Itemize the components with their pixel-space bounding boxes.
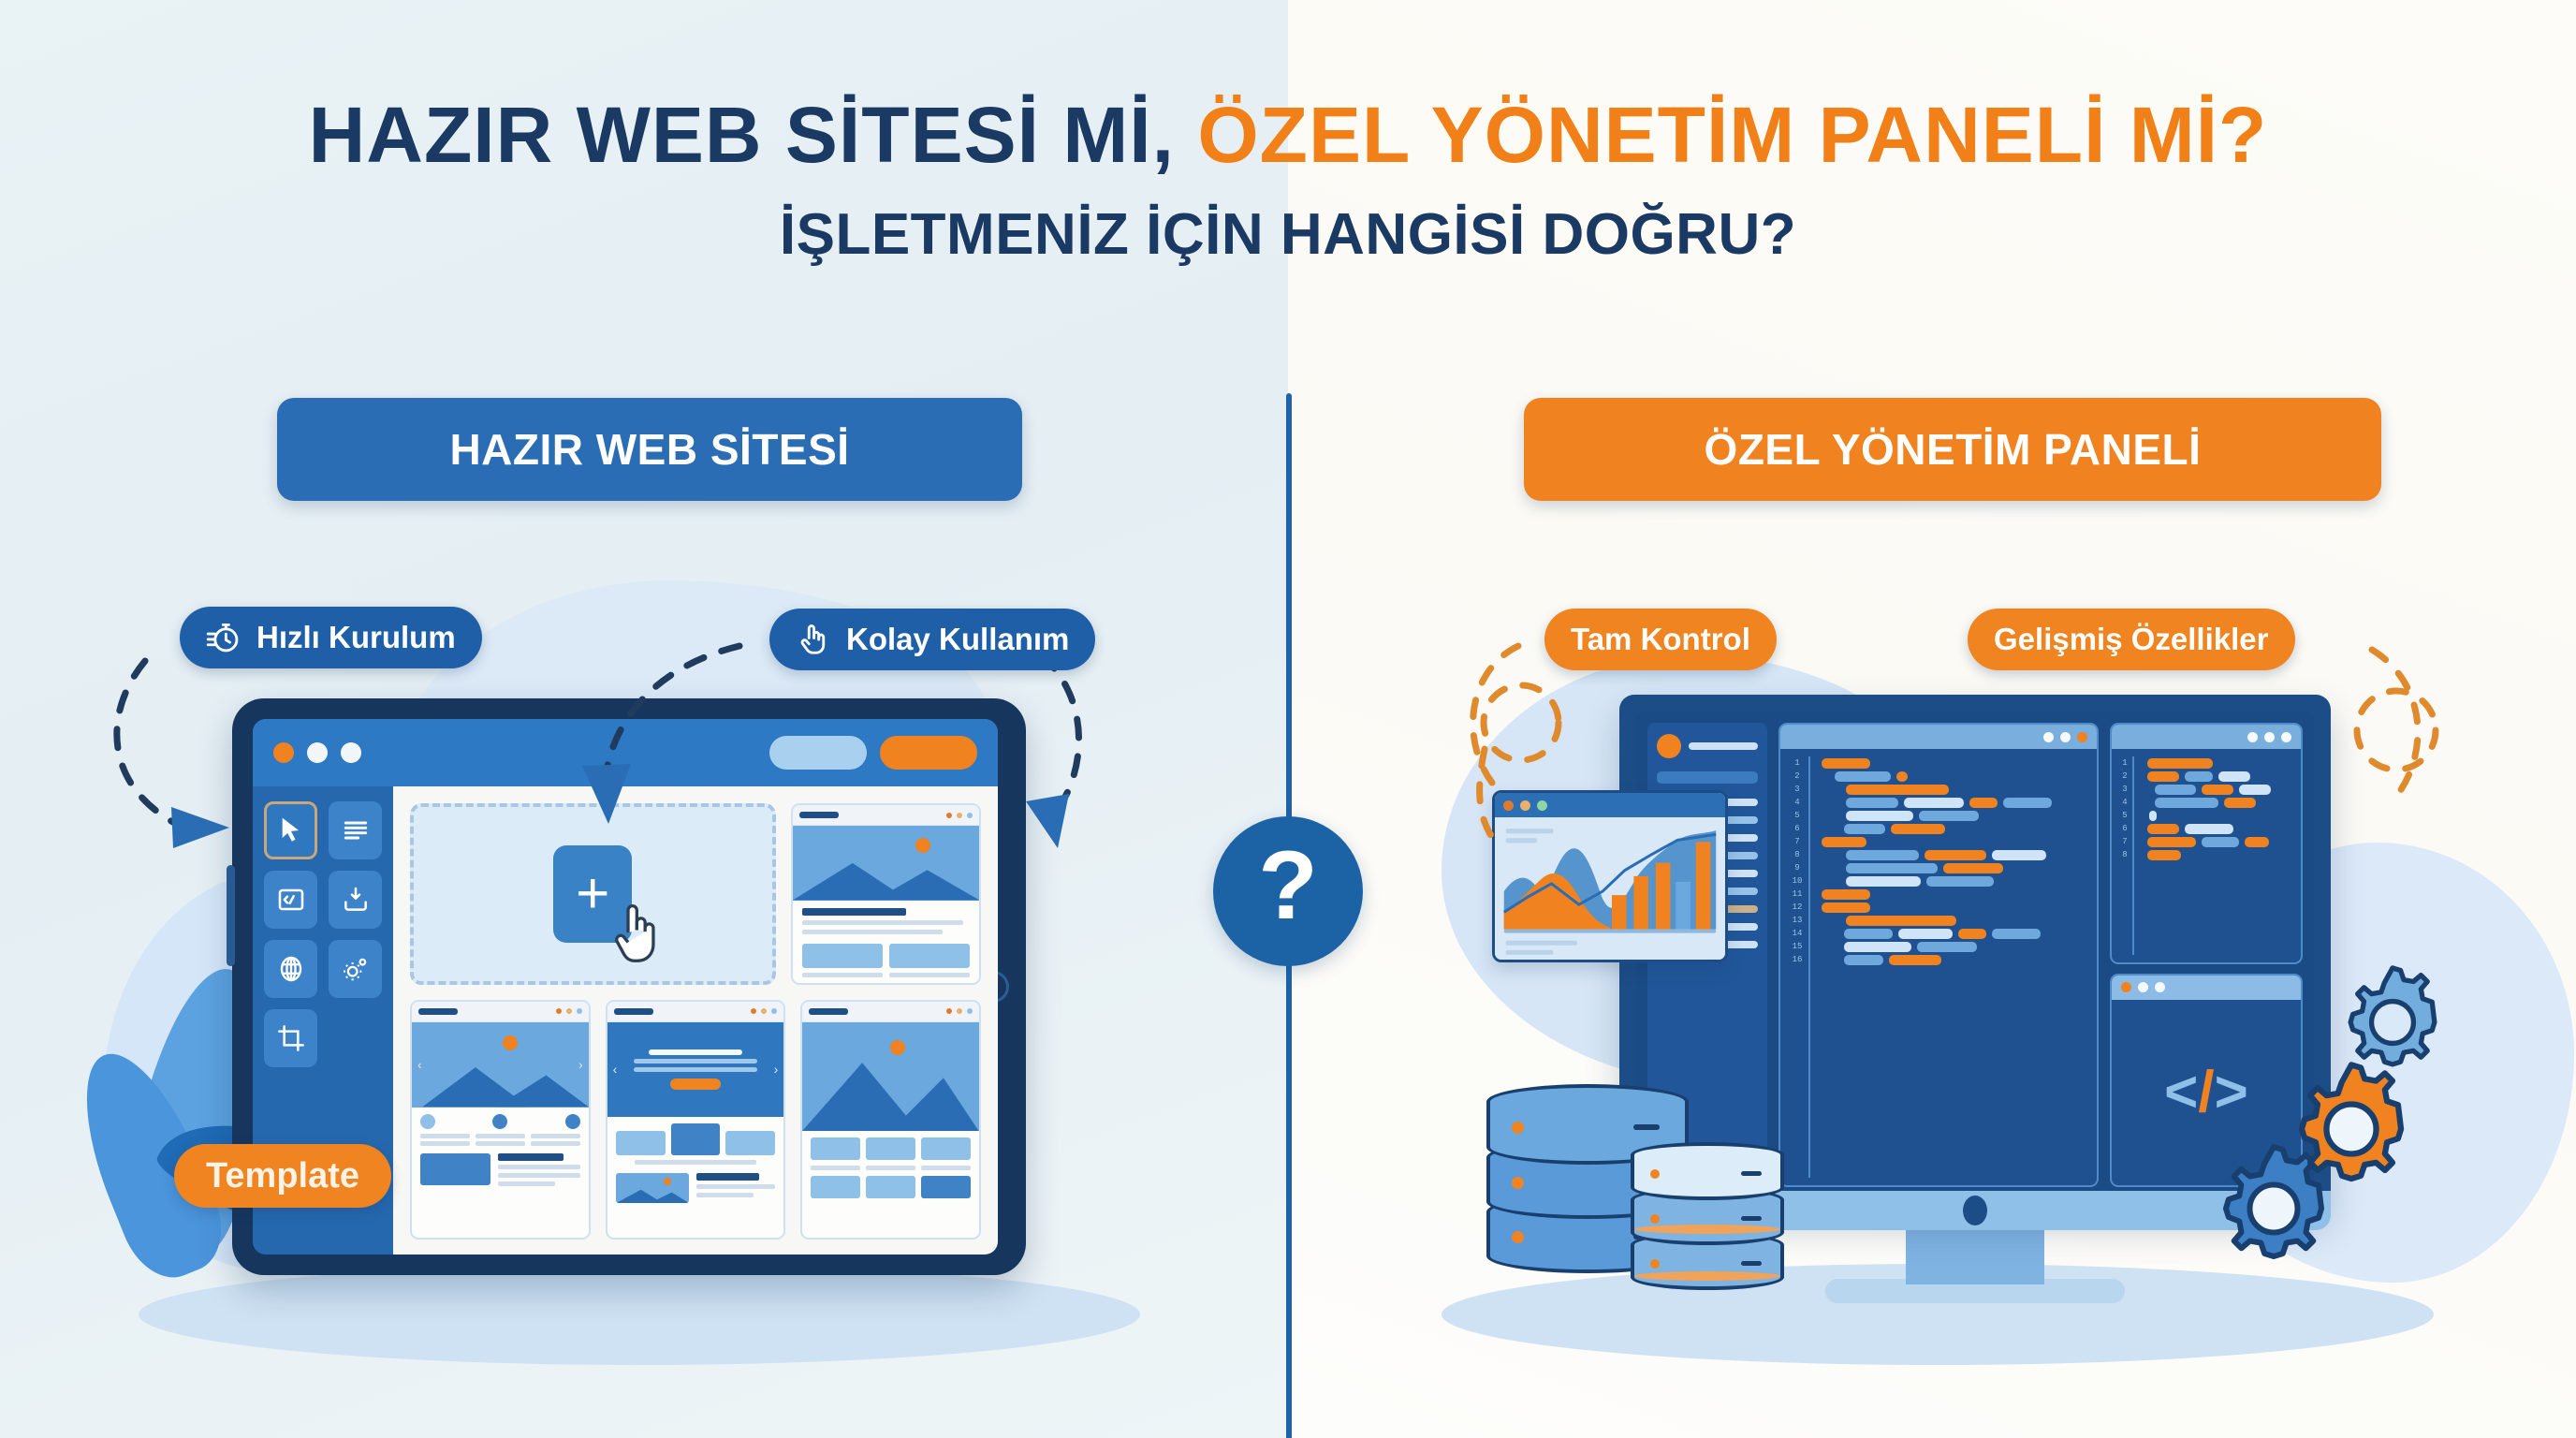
code-line <box>1818 876 2091 887</box>
title-part-one: HAZIR WEB SİTESİ Mİ, <box>309 91 1175 179</box>
card-caption <box>889 973 970 977</box>
template-card-titlebar <box>412 1002 589 1022</box>
template-card-1[interactable] <box>791 803 981 985</box>
card-title-bar <box>614 1008 653 1015</box>
card-dot-2-icon <box>957 1008 962 1014</box>
mountain-icon <box>793 854 979 900</box>
window-dot-minimize-icon[interactable] <box>2043 732 2054 742</box>
card-dot-1-icon <box>946 1008 952 1014</box>
pill-hizli-kurulum-label: Hızlı Kurulum <box>256 620 456 655</box>
grid-block <box>866 1137 915 1160</box>
template-card-titlebar <box>607 1002 784 1022</box>
line-number: 10 <box>1793 876 1803 887</box>
window-dot-close-icon[interactable] <box>1503 800 1514 811</box>
database-ring <box>1634 1225 1780 1234</box>
code-area[interactable]: 1 2 3 4 5 6 7 8 9 10 11 12 13 <box>1780 749 2097 1185</box>
code-window-titlebar <box>1780 725 2097 749</box>
card-content <box>793 901 979 985</box>
caption-row <box>420 1134 580 1146</box>
card-dot-3-icon <box>967 813 973 818</box>
caption-col <box>476 1134 525 1146</box>
line-number: 3 <box>2122 785 2127 795</box>
line-number: 5 <box>1794 811 1799 821</box>
database-ring <box>1634 1271 1780 1281</box>
side-window-titlebar <box>2112 725 2301 749</box>
card-text-line <box>531 1134 580 1138</box>
card-title-bar <box>418 1008 458 1015</box>
caption-row <box>811 1166 971 1170</box>
line-number: 6 <box>2122 824 2127 834</box>
card-caption <box>802 973 883 977</box>
line-number: 8 <box>1794 850 1799 860</box>
card-text-line <box>498 1165 580 1169</box>
line-number: 4 <box>2122 798 2127 808</box>
grid-block <box>921 1137 971 1160</box>
list-icon <box>341 815 371 845</box>
sidebar-profile-label <box>1689 742 1758 750</box>
card-text-line <box>476 1134 525 1138</box>
card-text-line <box>420 1134 470 1138</box>
database-led-icon <box>1650 1169 1660 1179</box>
card-thumb-row <box>802 944 970 968</box>
code-line <box>2140 771 2295 782</box>
pill-gelismis-ozellikler-label: Gelişmiş Özellikler <box>1994 622 2269 657</box>
card-grid-row <box>616 1123 776 1155</box>
tablet-volume-button[interactable] <box>227 865 235 966</box>
card-image-block <box>616 1173 690 1203</box>
grid-block <box>866 1176 915 1198</box>
card-dot-2-icon <box>566 1008 572 1014</box>
chart-bar <box>1676 882 1690 930</box>
tool-cursor[interactable] <box>264 801 317 859</box>
grid-block <box>811 1176 860 1198</box>
card-content <box>607 1117 784 1210</box>
code-line <box>1818 785 2091 795</box>
side-line-number-gutter: 1 2 3 4 5 6 7 8 <box>2117 756 2134 955</box>
template-card-4[interactable] <box>800 1000 981 1240</box>
title-part-two: ÖZEL YÖNETİM PANELİ Mİ? <box>1197 91 2267 179</box>
code-line <box>1818 837 2091 847</box>
tool-list[interactable] <box>329 801 382 859</box>
card-dot-2-icon <box>957 813 962 818</box>
card-caption <box>866 1166 915 1170</box>
code-line <box>1818 916 2091 926</box>
card-text-line <box>420 1141 470 1146</box>
hero-sun-icon <box>503 1035 518 1050</box>
page-subtitle: İŞLETMENİZ İÇİN HANGİSİ DOĞRU? <box>0 206 2576 264</box>
grid-row <box>811 1176 971 1198</box>
template-card-2[interactable]: ‹ › <box>410 1000 591 1240</box>
code-line <box>1818 824 2091 834</box>
banner-line <box>634 1059 757 1064</box>
card-bottom-row <box>420 1153 580 1186</box>
side-code-lines <box>2140 756 2295 955</box>
avatar <box>420 1114 435 1129</box>
line-number: 2 <box>2122 771 2127 782</box>
grid-row <box>811 1137 971 1160</box>
code-icon <box>276 885 306 915</box>
code-line <box>1818 942 2091 952</box>
builder-canvas: + <box>393 786 998 1255</box>
pill-tam-kontrol-label: Tam Kontrol <box>1571 622 1750 657</box>
card-thumb <box>802 944 883 968</box>
code-line <box>2140 785 2295 795</box>
card-dot-1-icon <box>946 813 952 818</box>
card-dot-3-icon <box>771 1008 777 1014</box>
carousel-prev-icon[interactable]: ‹ <box>613 1062 618 1077</box>
code-line <box>1818 889 2091 900</box>
line-number: 6 <box>1794 824 1799 834</box>
code-line <box>1818 863 2091 873</box>
code-line <box>1818 771 2091 782</box>
card-heading-line <box>498 1153 563 1161</box>
line-number: 8 <box>2122 850 2127 860</box>
code-line <box>1818 902 2091 913</box>
sidebar-search-field[interactable] <box>1657 771 1758 784</box>
card-bottom-row <box>616 1173 776 1203</box>
card-title-bar <box>799 812 839 818</box>
code-line <box>1818 850 2091 860</box>
line-number: 5 <box>2122 811 2127 821</box>
code-line <box>2140 824 2295 834</box>
grid-block <box>616 1131 666 1155</box>
card-heading-line <box>802 908 906 916</box>
code-lines <box>1818 756 2091 1178</box>
card-dot-1-icon <box>751 1008 756 1014</box>
builder-primary-button[interactable] <box>880 736 977 770</box>
analytics-titlebar <box>1495 793 1725 817</box>
window-dot-minimize-icon[interactable] <box>2138 982 2148 992</box>
card-text-line <box>498 1173 580 1178</box>
card-caption <box>921 1166 971 1170</box>
grid-block <box>671 1123 721 1155</box>
canvas-dropzone[interactable]: + <box>410 803 776 985</box>
card-text-line <box>531 1141 580 1146</box>
save-icon <box>341 885 371 915</box>
stopwatch-icon <box>206 620 241 655</box>
hero-sun-icon <box>890 1040 905 1055</box>
code-symbol-icon: </> <box>2164 1064 2248 1122</box>
pill-gelismis-ozellikler[interactable]: Gelişmiş Özellikler <box>1968 609 2295 670</box>
card-text-col <box>696 1173 775 1203</box>
card-dot-2-icon <box>761 1008 767 1014</box>
tool-save[interactable] <box>329 871 382 929</box>
window-dot-maximize-icon[interactable] <box>2060 732 2071 742</box>
window-dot-maximize-icon[interactable] <box>2155 982 2165 992</box>
template-card-3[interactable]: ‹ › <box>606 1000 786 1240</box>
window-dot-close-icon[interactable] <box>273 742 294 763</box>
mountain-icon <box>616 1185 690 1203</box>
card-text-line <box>498 1181 555 1186</box>
banner-cta-button[interactable] <box>670 1078 720 1090</box>
template-badge[interactable]: Template <box>174 1144 391 1208</box>
card-content <box>412 1108 589 1193</box>
line-number: 2 <box>1794 771 1799 782</box>
code-editor-window: 1 2 3 4 5 6 7 8 9 10 11 12 13 <box>1778 723 2099 1187</box>
database-led-icon <box>1512 1177 1524 1189</box>
line-number: 1 <box>1794 758 1799 769</box>
grid-block <box>811 1137 860 1160</box>
card-content <box>802 1131 979 1205</box>
code-line <box>2140 798 2295 808</box>
tool-globe[interactable] <box>264 940 317 998</box>
card-text-line <box>696 1193 754 1197</box>
window-dot-maximize-icon[interactable] <box>1537 800 1547 811</box>
card-hero-image <box>793 826 979 901</box>
card-thumb <box>889 944 970 968</box>
line-number: 12 <box>1793 902 1803 913</box>
infographic-canvas: HAZIR WEB SİTESİ Mİ, ÖZEL YÖNETİM PANELİ… <box>0 0 2576 1438</box>
card-hero-carousel: ‹ › <box>412 1022 589 1108</box>
code-panel-titlebar <box>2112 976 2301 1000</box>
database-disc-top <box>1631 1142 1784 1200</box>
tool-settings[interactable] <box>329 940 382 998</box>
mountain-icon <box>412 1054 589 1107</box>
code-line <box>1818 955 2091 965</box>
code-line <box>2140 758 2295 769</box>
line-number: 13 <box>1793 916 1803 926</box>
banner-line <box>634 1067 757 1072</box>
card-text-line <box>802 920 963 925</box>
line-number: 4 <box>1794 798 1799 808</box>
code-line <box>1818 798 2091 808</box>
template-card-row: ‹ › <box>410 1000 981 1240</box>
database-slot <box>1741 1216 1762 1221</box>
builder-toolbar <box>253 719 998 786</box>
window-dot-minimize-icon[interactable] <box>307 742 328 763</box>
card-heading-line <box>696 1173 759 1181</box>
window-dot-maximize-icon[interactable] <box>2264 732 2275 742</box>
chart-bar <box>1612 895 1627 929</box>
question-mark-badge: ? <box>1213 816 1363 966</box>
card-text-line <box>635 1160 756 1165</box>
pill-hizli-kurulum[interactable]: Hızlı Kurulum <box>180 607 482 668</box>
window-dot-maximize-icon[interactable] <box>341 742 361 763</box>
card-caption-row <box>802 973 970 977</box>
tool-crop[interactable] <box>264 1009 317 1067</box>
grid-block <box>921 1176 971 1198</box>
chart-footer-line <box>1506 941 1577 946</box>
main-code-window: 1 2 3 4 5 6 7 8 9 10 11 12 13 <box>1778 723 2099 1187</box>
chart-header-lines <box>1506 829 1554 843</box>
line-number: 7 <box>1794 837 1799 847</box>
line-number-gutter: 1 2 3 4 5 6 7 8 9 10 11 12 13 <box>1786 756 1810 1178</box>
pill-kolay-kullanim[interactable]: Kolay Kullanım <box>769 609 1095 670</box>
chart-footer-line <box>1506 950 1554 955</box>
line-number: 1 <box>2122 758 2127 769</box>
card-text-line <box>476 1141 525 1146</box>
builder-secondary-button[interactable] <box>769 736 867 770</box>
database-led-icon <box>1650 1259 1660 1269</box>
sidebar-profile[interactable] <box>1657 734 1758 758</box>
line-number: 3 <box>1794 785 1799 795</box>
grid-block <box>725 1131 775 1155</box>
question-mark-glyph: ? <box>1258 837 1318 934</box>
avatar <box>492 1114 507 1129</box>
carousel-next-icon[interactable]: › <box>774 1062 779 1077</box>
database-slot <box>1741 1261 1762 1266</box>
card-hero-image <box>802 1022 979 1131</box>
left-section-badge[interactable]: HAZIR WEB SİTESİ <box>277 398 1022 501</box>
left-device-shadow <box>139 1264 1140 1365</box>
card-image-block <box>420 1153 490 1185</box>
analytics-widget[interactable] <box>1492 790 1728 962</box>
tap-hand-icon <box>796 622 831 657</box>
page-title: HAZIR WEB SİTESİ Mİ, ÖZEL YÖNETİM PANELİ… <box>0 95 2576 174</box>
window-dot-minimize-icon[interactable] <box>1520 800 1530 811</box>
code-line <box>1818 929 2091 939</box>
chart-bar <box>1656 863 1671 930</box>
right-section-badge[interactable]: ÖZEL YÖNETİM PANELİ <box>1524 398 2381 501</box>
database-slot <box>1633 1124 1660 1130</box>
code-line <box>2140 850 2295 860</box>
card-text-col <box>498 1153 580 1186</box>
analytics-chart <box>1495 817 1725 960</box>
card-dot-3-icon <box>967 1008 973 1014</box>
globe-icon <box>276 954 306 984</box>
line-number: 7 <box>2122 837 2127 847</box>
code-line <box>1818 758 2091 769</box>
line-number: 11 <box>1793 889 1803 900</box>
database-led-icon <box>1650 1214 1660 1224</box>
window-dot-close-icon[interactable] <box>2077 732 2087 742</box>
carousel-next-icon[interactable]: › <box>578 1057 583 1072</box>
code-line <box>2140 811 2295 821</box>
pill-tam-kontrol[interactable]: Tam Kontrol <box>1544 609 1777 670</box>
chart-bar <box>1696 842 1711 929</box>
template-card-titlebar <box>802 1002 979 1022</box>
database-slot <box>1741 1171 1762 1176</box>
tool-code[interactable] <box>264 871 317 929</box>
avatar-row <box>420 1114 580 1129</box>
code-line <box>2140 837 2295 847</box>
cursor-icon <box>276 815 306 845</box>
mountain-icon <box>802 1055 979 1131</box>
banner-text <box>622 1049 768 1090</box>
line-number: 15 <box>1793 942 1803 952</box>
code-line <box>1818 811 2091 821</box>
hand-pointer-icon <box>607 898 669 973</box>
line-number: 16 <box>1793 955 1803 965</box>
right-panels: 1 2 3 4 5 6 7 8 <box>2110 723 2303 1187</box>
line-number: 9 <box>1794 863 1799 873</box>
card-text-line <box>802 930 944 934</box>
gear-orange-icon <box>2278 1056 2424 1202</box>
card-title-bar <box>809 1008 848 1015</box>
window-dot-close-icon[interactable] <box>2281 732 2291 742</box>
avatar <box>565 1114 580 1129</box>
line-number: 14 <box>1793 929 1803 939</box>
template-card-titlebar <box>793 805 979 826</box>
card-dot-3-icon <box>577 1008 582 1014</box>
caption-col <box>420 1134 470 1146</box>
hero-sun-icon <box>915 838 930 853</box>
window-dot-minimize-icon[interactable] <box>2247 732 2258 742</box>
card-hero-banner: ‹ › <box>607 1022 784 1117</box>
card-dot-1-icon <box>556 1008 562 1014</box>
side-code-area[interactable]: 1 2 3 4 5 6 7 8 <box>2112 749 2301 962</box>
card-text-line <box>696 1184 775 1189</box>
monitor-screen: 1 2 3 4 5 6 7 8 9 10 11 12 13 <box>1636 712 2314 1198</box>
avatar <box>1657 734 1681 758</box>
chart-axis <box>1504 930 1716 933</box>
side-code-window: 1 2 3 4 5 6 7 8 <box>2110 723 2303 964</box>
database-led-icon <box>1512 1122 1524 1134</box>
chart-svg <box>1495 817 1725 960</box>
header: HAZIR WEB SİTESİ Mİ, ÖZEL YÖNETİM PANELİ… <box>0 0 2576 264</box>
window-dot-close-icon[interactable] <box>2121 982 2131 992</box>
database-stack-small <box>1631 1135 1784 1296</box>
banner-heading <box>649 1049 743 1055</box>
database-led-icon <box>1512 1231 1524 1243</box>
chart-bar <box>1633 876 1648 930</box>
settings-icon <box>341 954 371 984</box>
add-block-label: + <box>576 865 609 923</box>
card-caption <box>811 1166 860 1170</box>
pill-kolay-kullanim-label: Kolay Kullanım <box>846 622 1069 657</box>
monitor-indicator-icon <box>1963 1196 1987 1225</box>
caption-col <box>531 1134 580 1146</box>
crop-icon <box>276 1023 306 1053</box>
